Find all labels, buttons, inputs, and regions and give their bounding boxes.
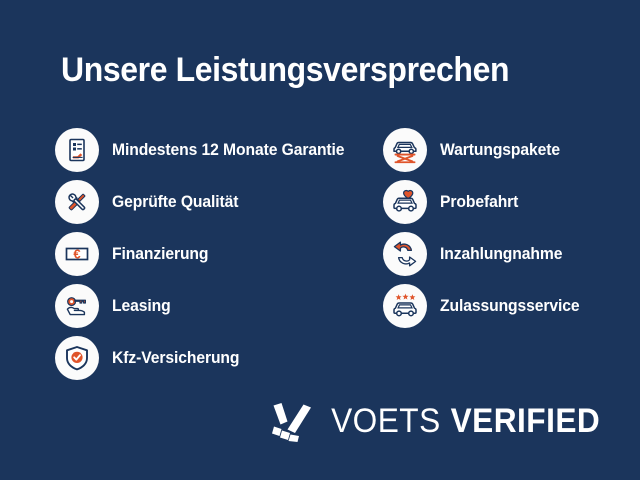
euro-banknote-icon: €	[55, 232, 99, 276]
wrench-screwdriver-icon	[55, 180, 99, 224]
benefit-item-leasing: Leasing	[55, 284, 357, 328]
benefit-item-finanzierung: € Finanzierung	[55, 232, 357, 276]
car-lift-icon	[383, 128, 427, 172]
benefit-label: Kfz-Versicherung	[112, 349, 239, 368]
brand-name-bold: VERIFIED	[450, 404, 600, 438]
voets-v-logo-icon	[271, 399, 313, 443]
brand-name-light: VOETS	[331, 404, 441, 438]
promo-banner: Unsere Leistungsversprechen Mindestens 1…	[0, 0, 640, 480]
benefit-item-versicherung: Kfz-Versicherung	[55, 336, 357, 380]
benefit-label: Geprüfte Qualität	[112, 193, 238, 212]
benefit-label: Leasing	[112, 297, 171, 316]
benefit-label: Wartungspakete	[440, 141, 560, 160]
benefit-item-qualitaet: Geprüfte Qualität	[55, 180, 357, 224]
hand-key-icon	[55, 284, 99, 328]
exchange-arrows-icon	[383, 232, 427, 276]
benefit-item-probefahrt: Probefahrt	[383, 180, 587, 224]
page-title: Unsere Leistungsversprechen	[61, 48, 509, 92]
benefit-label: Zulassungsservice	[440, 297, 580, 316]
benefit-list-left: Mindestens 12 Monate Garantie Geprüft	[55, 128, 357, 388]
benefit-list-right: Wartungspakete Probefahrt	[383, 128, 587, 336]
svg-text:€: €	[73, 246, 80, 261]
benefit-label: Finanzierung	[112, 245, 208, 264]
benefit-label: Mindestens 12 Monate Garantie	[112, 141, 344, 160]
contract-document-icon	[55, 128, 99, 172]
brand-logo: VOETSVERIFIED	[271, 396, 606, 446]
brand-wordmark: VOETSVERIFIED	[327, 404, 606, 438]
benefit-label: Inzahlungnahme	[440, 245, 562, 264]
benefit-item-garantie: Mindestens 12 Monate Garantie	[55, 128, 357, 172]
benefit-item-wartungspakete: Wartungspakete	[383, 128, 587, 172]
benefit-item-zulassungsservice: Zulassungsservice	[383, 284, 587, 328]
benefit-label: Probefahrt	[440, 193, 518, 212]
car-heart-icon	[383, 180, 427, 224]
car-stars-icon	[383, 284, 427, 328]
benefit-item-inzahlungnahme: Inzahlungnahme	[383, 232, 587, 276]
shield-check-icon	[55, 336, 99, 380]
